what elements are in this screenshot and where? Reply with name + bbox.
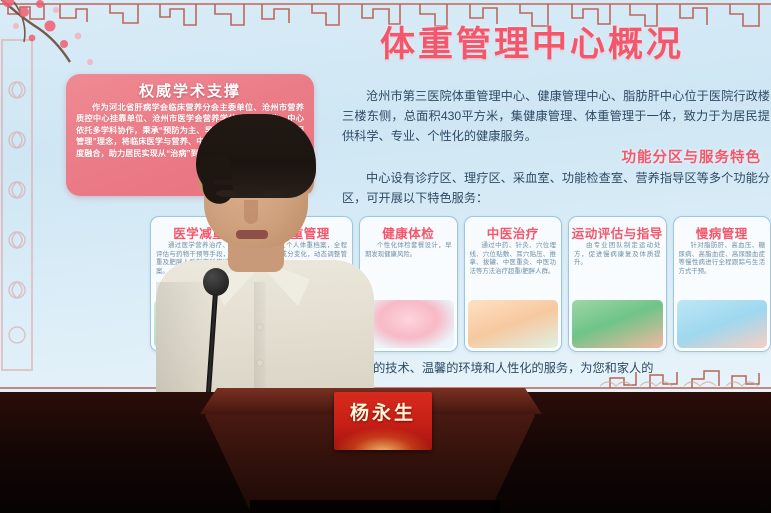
slide-paragraph-1: 沧州市第三医院体重管理中心、健康管理中心、脂肪肝中心位于医院行政楼三楼东侧，总面… — [342, 86, 770, 146]
feature-card-body: 针对脂肪肝、高血压、糖尿病、高脂血症、高尿酸血症等慢性病进行全程跟踪与生活方式干… — [679, 242, 766, 276]
shirt-button — [257, 360, 263, 366]
feature-card-title: 慢病管理 — [674, 223, 771, 242]
speaker-name: 杨永生 — [334, 398, 432, 425]
feature-card-body: 通过中药、针灸、穴位埋线、穴位贴敷、耳穴贴压、推拿、拔罐、中医重灸、中医功法等方… — [470, 242, 557, 276]
feature-card-illustration — [572, 300, 663, 348]
feature-card-body: 由专业团队制定运动处方，促进慢病康复及体质提升。 — [574, 242, 661, 268]
speaker-mouth — [236, 230, 268, 239]
microphone-icon — [195, 268, 243, 398]
feature-card-title: 运动评估与指导 — [569, 223, 666, 242]
speaker-eye — [216, 190, 236, 197]
slide-red-subheading: 功能分区与服务特色 — [461, 146, 761, 167]
projection-screen: 体重管理中心概况 权威学术支撑 作为河北省肝病学会临床营养分会主委单位、沧州市营… — [0, 0, 771, 392]
podium-shadow — [250, 500, 500, 513]
slide-title: 体重管理中心概况 — [352, 24, 712, 66]
feature-card: 慢病管理 针对脂肪肝、高血压、糖尿病、高脂血症、高尿酸血症等慢性病进行全程跟踪与… — [673, 216, 771, 352]
speaker-nameplate: 杨永生 — [334, 392, 432, 450]
nameplate-glow — [334, 428, 432, 450]
feature-card-illustration — [468, 300, 559, 348]
speaker-eye — [262, 190, 282, 197]
feature-card-illustration — [677, 300, 768, 348]
screenshot-root: 体重管理中心概况 权威学术支撑 作为河北省肝病学会临床营养分会主委单位、沧州市营… — [0, 0, 771, 513]
feature-card-title: 中医治疗 — [465, 223, 562, 242]
speaker-nose — [244, 200, 258, 224]
speaker-figure — [150, 92, 378, 422]
speaker-hair — [196, 114, 316, 198]
feature-card: 运动评估与指导 由专业团队制定运动处方，促进慢病康复及体质提升。 — [568, 216, 667, 352]
speaker-eyebrow — [260, 180, 286, 186]
feature-card: 中医治疗 通过中药、针灸、穴位埋线、穴位贴敷、耳穴贴压、推拿、拔罐、中医重灸、中… — [464, 216, 563, 352]
microphone-head — [203, 268, 229, 296]
slide-paragraph-2: 中心设有诊疗区、理疗区、采血室、功能检查室、营养指导区等多个功能分区，可开展以下… — [342, 168, 770, 208]
shirt-button — [257, 324, 263, 330]
microphone-stem — [205, 292, 218, 400]
